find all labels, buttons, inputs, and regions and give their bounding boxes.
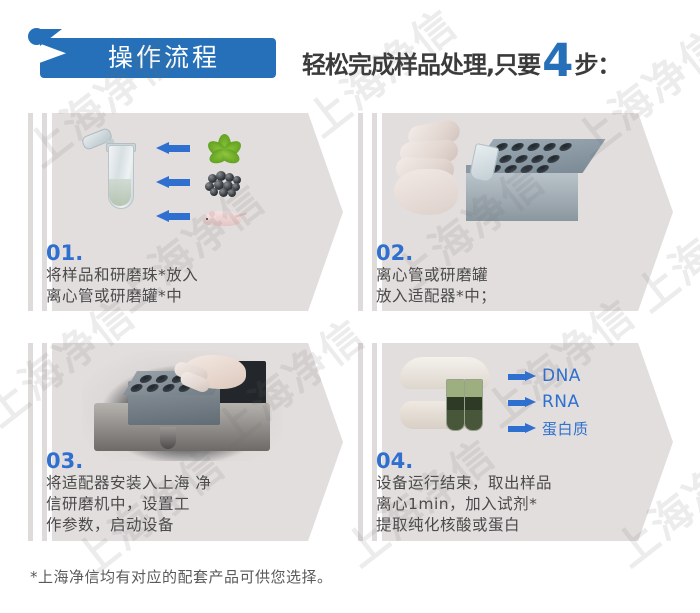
left-arrow-icon: [156, 210, 190, 223]
tagline-part-2: 步：: [574, 45, 620, 80]
step-card-04: DNA RNA 蛋白质 04. 设备运行结束，取出样品 离心1min，加入试剂*…: [358, 343, 673, 541]
left-arrow-icon: [156, 176, 190, 189]
step-card-03: 03. 将适配器安装入上海 净 信研磨机中，设置工 作参数，启动设备: [28, 343, 343, 541]
step-description: 将适配器安装入上海 净 信研磨机中，设置工 作参数，启动设备: [46, 473, 211, 536]
decor-stripe-outer: [358, 343, 363, 541]
sample-vial-icon: [446, 379, 465, 431]
grinder-machine-icon: [82, 351, 282, 461]
step-number: 04.: [376, 449, 413, 473]
centrifuge-tube-icon: [104, 135, 136, 213]
step-card-01: 01. 将样品和研磨珠*放入 离心管或研磨罐*中: [28, 113, 343, 311]
right-arrow-icon: [508, 371, 536, 382]
decor-stripe-outer: [358, 113, 363, 311]
section-title-label: 操作流程: [40, 38, 276, 78]
output-label: 蛋白质: [542, 418, 589, 439]
grinding-beads-icon: [202, 169, 248, 197]
step-description: 离心管或研磨罐 放入适配器*中；: [376, 265, 496, 307]
output-label: DNA: [542, 366, 581, 386]
step-number: 03.: [46, 449, 83, 473]
hand-icon: [164, 351, 250, 405]
step-card-02: 02. 离心管或研磨罐 放入适配器*中；: [358, 113, 673, 311]
sample-row-plant: [156, 137, 276, 161]
sample-row-animal: [156, 205, 276, 229]
mouse-sample-icon: [202, 203, 248, 231]
decor-stripe-outer: [28, 113, 33, 311]
left-arrow-icon: [156, 142, 190, 155]
footer-note: *上海净信均有对应的配套产品可供您选择。: [30, 566, 333, 587]
output-row-protein: 蛋白质: [508, 417, 589, 439]
leaf-sample-icon: [202, 135, 248, 163]
right-arrow-icon: [508, 423, 536, 434]
step-number: 01.: [46, 241, 83, 265]
output-label: RNA: [542, 392, 580, 412]
decor-stripe-outer: [28, 343, 33, 541]
gloved-hand-icon: [400, 357, 492, 431]
tagline-step-count: 4: [542, 43, 573, 79]
header: 操作流程 轻松完成样品处理,只要 4 步：: [0, 0, 700, 98]
tagline-part-1: 轻松完成样品处理,只要: [302, 45, 540, 80]
sample-vial-icon: [464, 379, 483, 431]
step-description: 设备运行结束，取出样品 离心1min，加入试剂* 提取纯化核酸或蛋白: [376, 473, 552, 536]
sample-row-beads: [156, 171, 276, 195]
step-number: 02.: [376, 241, 413, 265]
header-tagline: 轻松完成样品处理,只要 4 步：: [302, 40, 620, 86]
step-description: 将样品和研磨珠*放入 离心管或研磨罐*中: [46, 265, 198, 307]
output-row-rna: RNA: [508, 391, 580, 413]
section-title-banner: 操作流程: [28, 26, 288, 78]
right-arrow-icon: [508, 397, 536, 408]
output-row-dna: DNA: [508, 365, 581, 387]
